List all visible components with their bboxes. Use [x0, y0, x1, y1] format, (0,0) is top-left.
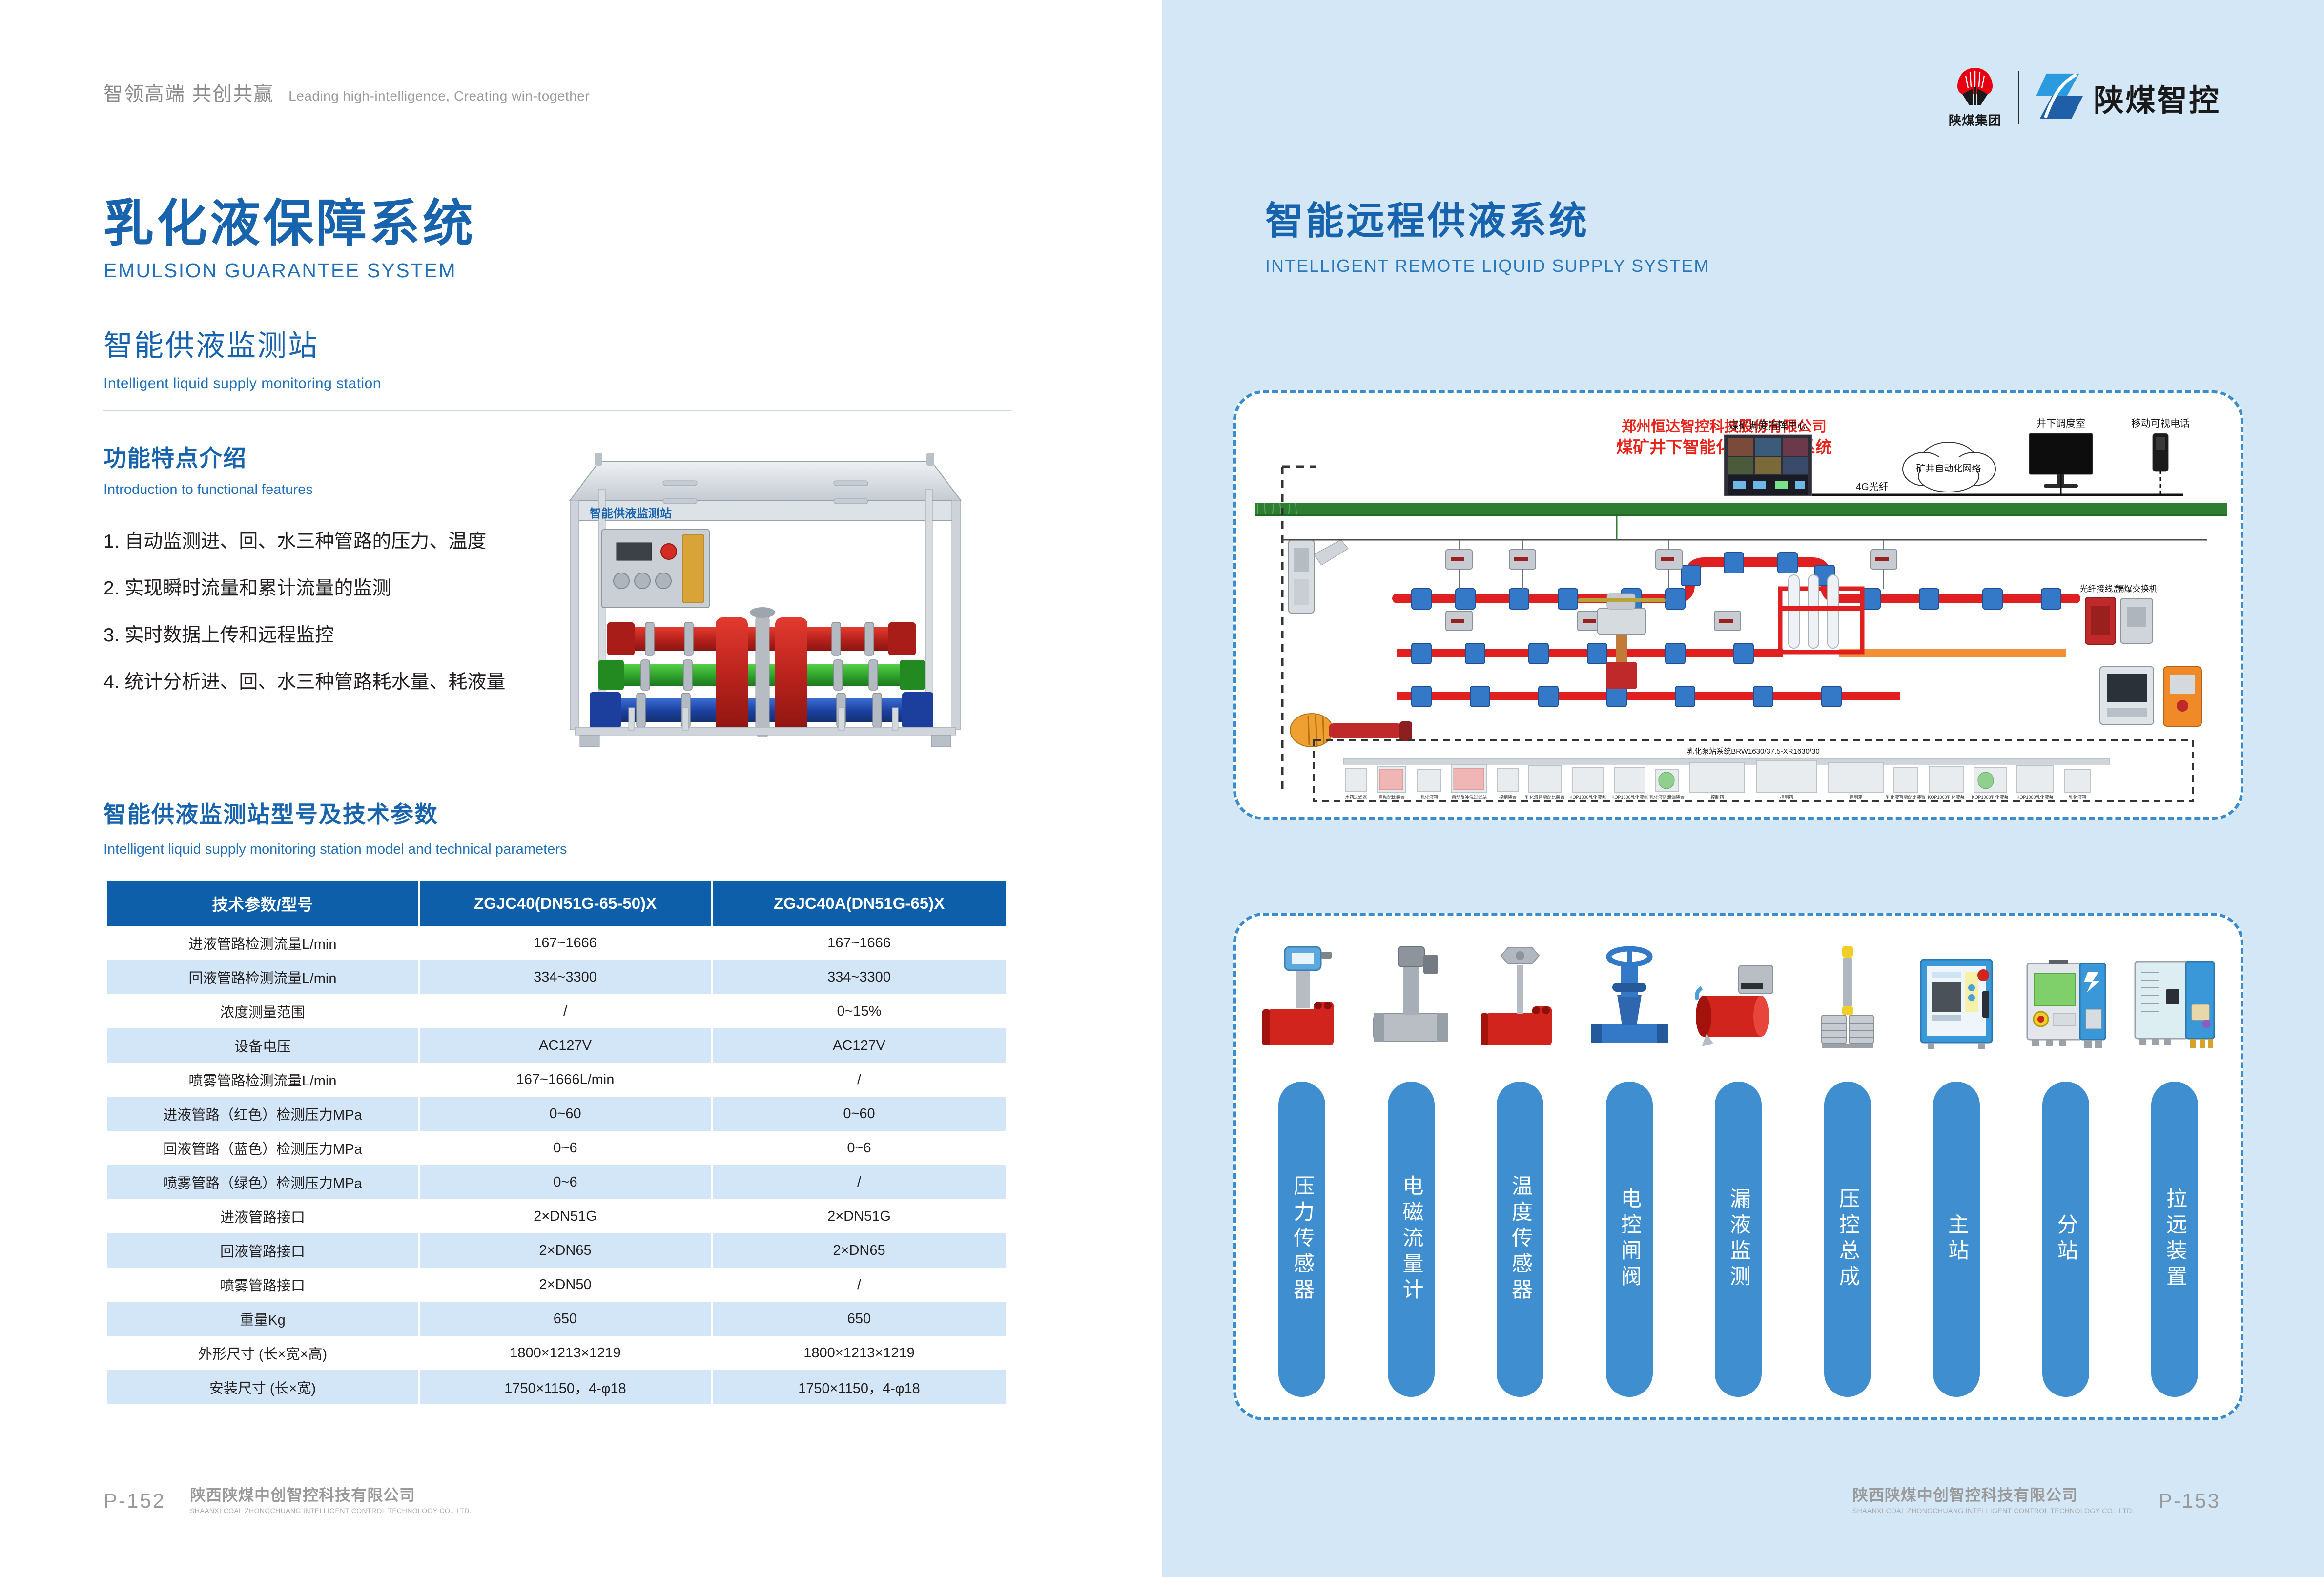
svg-text:KQP1000乳化液泵: KQP1000乳化液泵 — [1611, 794, 1648, 799]
svg-text:自动配比装置: 自动配比装置 — [1378, 794, 1405, 799]
system-diagram: 郑州恒达智控科技股份有限公司 煤矿井下智能化远程供液系统 煤矿调度指挥中心 — [1236, 393, 2241, 817]
component-label: 拉远装置 — [2164, 1188, 2185, 1291]
list-item: 4. 统计分析进、回、水三种管路耗水量、耗液量 — [103, 673, 592, 692]
cell-model-1: 1800×1213×1219 — [420, 1336, 713, 1370]
table-row: 喷雾管路（绿色）检测压力MPa 0~6 / — [107, 1165, 1006, 1199]
features-heading-cn: 功能特点介绍 — [103, 439, 313, 473]
company-name-cn: 陕西陕煤中创智控科技有限公司 — [1852, 1487, 2134, 1504]
svg-text:乳化液智能配比装置: 乳化液智能配比装置 — [1525, 794, 1564, 799]
cell-parameter: 回液管路（蓝色）检测压力MPa — [107, 1131, 420, 1165]
svg-text:KQP1000乳化液泵: KQP1000乳化液泵 — [1928, 794, 1964, 799]
cell-model-1: 0~60 — [420, 1097, 713, 1131]
table-row: 进液管路接口 2×DN51G 2×DN51G — [107, 1199, 1006, 1233]
component-leak-detector[interactable]: 漏液监测 — [1692, 936, 1785, 1397]
component-label: 主站 — [1946, 1213, 1967, 1265]
component-label: 电控闸阀 — [1619, 1188, 1640, 1291]
shaanmei-group-logo: 陕煤集团 — [1949, 66, 2001, 129]
component-gate-valve[interactable]: 电控闸阀 — [1583, 936, 1676, 1397]
cell-model-1: / — [420, 994, 713, 1028]
main-station-icon — [1910, 936, 2003, 1058]
page-title: 乳化液保障系统 EMULSION GUARANTEE SYSTEM — [103, 195, 476, 282]
table-row: 进液管路（红色）检测压力MPa 0~60 0~60 — [107, 1097, 1006, 1131]
component-remote-device[interactable]: 拉远装置 — [2128, 936, 2221, 1397]
table-row: 进液管路检测流量L/min 167~1666 167~1666 — [107, 926, 1006, 960]
right-page-title: 智能远程供液系统 INTELLIGENT REMOTE LIQUID SUPPL… — [1265, 190, 1709, 276]
component-label-pill: 主站 — [1933, 1082, 1980, 1397]
components-grid: 压力传感器 电磁流量计 — [1255, 936, 2221, 1397]
component-temperature-sensor[interactable]: 温度传感器 — [1474, 936, 1566, 1397]
horizontal-divider — [103, 410, 1011, 411]
cell-model-2: 2×DN51G — [713, 1199, 1006, 1233]
left-page: 智领高端 共创共赢 Leading high-intelligence, Cre… — [0, 0, 1162, 1577]
svg-text:水箱过滤器: 水箱过滤器 — [1345, 794, 1367, 799]
component-label: 压控总成 — [1837, 1188, 1858, 1291]
component-label-pill: 温度传感器 — [1497, 1082, 1543, 1397]
page-title-cn: 乳化液保障系统 — [103, 195, 476, 251]
cell-parameter: 安装尺寸 (长×宽) — [107, 1370, 420, 1404]
cell-model-2: AC127V — [713, 1028, 1006, 1063]
cell-parameter: 设备电压 — [107, 1028, 420, 1063]
cell-model-2: / — [713, 1165, 1006, 1199]
cell-model-1: 2×DN65 — [420, 1233, 713, 1268]
table-row: 外形尺寸 (长×宽×高) 1800×1213×1219 1800×1213×12… — [107, 1336, 1006, 1370]
component-label-pill: 漏液监测 — [1715, 1082, 1762, 1397]
table-row: 回液管路（蓝色）检测压力MPa 0~6 0~6 — [107, 1131, 1006, 1165]
features-heading: 功能特点介绍 Introduction to functional featur… — [103, 439, 313, 498]
cell-model-2: 167~1666 — [713, 926, 1006, 960]
label-pump-station: 乳化泵站系统BRW1630/37.5-XR1630/30 — [1687, 747, 1820, 756]
sub-station-icon — [2019, 936, 2112, 1058]
company-signature: 陕西陕煤中创智控科技有限公司 SHAANXI COAL ZHONGCHUANG … — [1852, 1487, 2134, 1515]
component-label-pill: 电磁流量计 — [1388, 1082, 1435, 1397]
column-header-model-1: ZGJC40(DN51G-65-50)X — [420, 881, 713, 926]
right-page-title-cn: 智能远程供液系统 — [1265, 190, 1709, 245]
table-row: 回液管路接口 2×DN65 2×DN65 — [107, 1233, 1006, 1268]
table-row: 喷雾管路接口 2×DN50 / — [107, 1268, 1006, 1302]
page-number: P-153 — [2159, 1489, 2221, 1513]
cell-model-1: 334~3300 — [420, 960, 713, 994]
table-row: 设备电压 AC127V AC127V — [107, 1028, 1006, 1063]
cell-model-2: 1800×1213×1219 — [713, 1336, 1006, 1370]
cell-parameter: 回液管路接口 — [107, 1233, 420, 1268]
right-page: 陕煤集团 陕煤智控 智能远程供液系统 INTELLIGENT REMOTE LI… — [1162, 0, 2324, 1577]
svg-text:KQP1000乳化液泵: KQP1000乳化液泵 — [1569, 794, 1606, 799]
remote-device-icon — [2128, 936, 2221, 1058]
cell-model-1: 2×DN51G — [420, 1199, 713, 1233]
cell-model-1: 2×DN50 — [420, 1268, 713, 1302]
cell-model-2: / — [713, 1268, 1006, 1302]
component-pressure-control-assembly[interactable]: 压控总成 — [1801, 936, 1894, 1397]
component-flow-meter[interactable]: 电磁流量计 — [1365, 936, 1458, 1397]
company-name-en: SHAANXI COAL ZHONGCHUANG INTELLIGENT CON… — [1852, 1507, 2134, 1515]
list-item: 3. 实时数据上传和远程监控 — [103, 626, 592, 645]
component-label-pill: 拉远装置 — [2151, 1082, 2198, 1397]
svg-text:乳化液防泄漏装置: 乳化液防泄漏装置 — [1649, 794, 1685, 799]
gate-valve-icon — [1583, 936, 1676, 1058]
page-title-en: EMULSION GUARANTEE SYSTEM — [103, 259, 476, 282]
label-4g-fiber: 4G光纤 — [1856, 481, 1889, 492]
svg-text:KQP1000乳化液泵: KQP1000乳化液泵 — [2016, 794, 2053, 799]
cell-parameter: 外形尺寸 (长×宽×高) — [107, 1336, 420, 1370]
svg-text:控制箱: 控制箱 — [1780, 794, 1793, 799]
cell-model-2: / — [713, 1063, 1006, 1097]
cell-parameter: 喷雾管路接口 — [107, 1268, 420, 1302]
svg-text:乳化液箱: 乳化液箱 — [2069, 794, 2086, 799]
cell-parameter: 进液管路接口 — [107, 1199, 420, 1233]
cell-model-2: 1750×1150，4-φ18 — [713, 1370, 1006, 1404]
cell-model-1: 650 — [420, 1302, 713, 1336]
label-underground-dispatch: 井下调度室 — [2036, 418, 2085, 429]
cell-model-1: 0~6 — [420, 1165, 713, 1199]
cell-model-2: 650 — [713, 1302, 1006, 1336]
cell-parameter: 浓度测量范围 — [107, 994, 420, 1028]
tagline-cn: 智领高端 共创共赢 — [103, 78, 274, 106]
tagline-en: Leading high-intelligence, Creating win-… — [288, 88, 590, 104]
svg-text:控制箱: 控制箱 — [1849, 794, 1862, 799]
list-item: 2. 实现瞬时流量和累计流量的监测 — [103, 579, 592, 598]
shaanmei-group-mark-icon — [1954, 66, 1995, 107]
shaanmei-zhikong-mark-icon — [2036, 71, 2083, 124]
component-label: 漏液监测 — [1728, 1188, 1749, 1291]
shaanmei-zhikong-label: 陕煤智控 — [2094, 76, 2221, 120]
cell-model-2: 2×DN65 — [713, 1233, 1006, 1268]
cell-model-2: 0~6 — [713, 1131, 1006, 1165]
system-diagram-card: 郑州恒达智控科技股份有限公司 煤矿井下智能化远程供液系统 煤矿调度指挥中心 — [1233, 390, 2243, 820]
section-subtitle-en: Intelligent liquid supply monitoring sta… — [103, 375, 381, 392]
component-label: 温度传感器 — [1510, 1175, 1531, 1304]
cell-parameter: 喷雾管路（绿色）检测压力MPa — [107, 1165, 420, 1199]
cell-model-1: 1750×1150，4-φ18 — [420, 1370, 713, 1404]
column-header-model-2: ZGJC40A(DN51G-65)X — [713, 881, 1006, 926]
company-name-cn: 陕西陕煤中创智控科技有限公司 — [190, 1487, 472, 1504]
cell-parameter: 进液管路（红色）检测压力MPa — [107, 1097, 420, 1131]
svg-text:智能供液监测站: 智能供液监测站 — [590, 507, 672, 520]
cell-model-2: 334~3300 — [713, 960, 1006, 994]
component-label-pill: 压控总成 — [1824, 1082, 1871, 1397]
cell-model-2: 0~60 — [713, 1097, 1006, 1131]
brochure-spread: 智领高端 共创共赢 Leading high-intelligence, Cre… — [0, 0, 2324, 1577]
component-label-pill: 压力传感器 — [1278, 1082, 1325, 1397]
cell-parameter: 回液管路检测流量L/min — [107, 960, 420, 994]
cell-model-1: 0~6 — [420, 1131, 713, 1165]
table-row: 喷雾管路检测流量L/min 167~1666L/min / — [107, 1063, 1006, 1097]
right-page-title-en: INTELLIGENT REMOTE LIQUID SUPPLY SYSTEM — [1265, 256, 1709, 276]
cell-parameter: 喷雾管路检测流量L/min — [107, 1063, 420, 1097]
flow-meter-icon — [1365, 936, 1458, 1058]
component-label: 压力传感器 — [1292, 1175, 1313, 1304]
pressure-sensor-icon — [1255, 936, 1348, 1058]
cell-model-1: AC127V — [420, 1028, 713, 1063]
table-heading: 智能供液监测站型号及技术参数 Intelligent liquid supply… — [103, 796, 567, 858]
svg-text:乳化液箱: 乳化液箱 — [1420, 794, 1438, 799]
cell-parameter: 重量Kg — [107, 1302, 420, 1336]
company-name-en: SHAANXI COAL ZHONGCHUANG INTELLIGENT CON… — [190, 1507, 472, 1515]
cell-parameter: 进液管路检测流量L/min — [107, 926, 420, 960]
features-heading-en: Introduction to functional features — [103, 482, 313, 498]
section-subtitle: 智能供液监测站 Intelligent liquid supply monito… — [103, 322, 381, 392]
label-mine-network: 矿井自动化网络 — [1916, 463, 1981, 474]
section-subtitle-cn: 智能供液监测站 — [103, 322, 381, 365]
product-photo-monitoring-station: 智能供液监测站 — [541, 434, 980, 761]
component-label: 分站 — [2055, 1213, 2076, 1265]
table-row: 安装尺寸 (长×宽) 1750×1150，4-φ18 1750×1150，4-φ… — [107, 1370, 1006, 1404]
right-page-footer: 陕西陕煤中创智控科技有限公司 SHAANXI COAL ZHONGCHUANG … — [1852, 1487, 2221, 1515]
cell-model-1: 167~1666L/min — [420, 1063, 713, 1097]
component-sub-station[interactable]: 分站 — [2019, 936, 2112, 1397]
component-label-pill: 分站 — [2042, 1082, 2089, 1397]
svg-text:控制箱: 控制箱 — [1710, 794, 1724, 799]
tagline: 智领高端 共创共赢 Leading high-intelligence, Cre… — [103, 78, 590, 106]
list-item: 1. 自动监测进、回、水三种管路的压力、温度 — [103, 532, 592, 551]
brand-logos: 陕煤集团 陕煤智控 — [1949, 66, 2221, 129]
spec-table: 技术参数/型号 ZGJC40(DN51G-65-50)X ZGJC40A(DN5… — [107, 881, 1006, 1404]
table-row: 重量Kg 650 650 — [107, 1302, 1006, 1336]
table-header-row: 技术参数/型号 ZGJC40(DN51G-65-50)X ZGJC40A(DN5… — [107, 881, 1006, 926]
svg-text:乳化液智能配比装置: 乳化液智能配比装置 — [1886, 794, 1925, 799]
left-page-footer: P-152 陕西陕煤中创智控科技有限公司 SHAANXI COAL ZHONGC… — [103, 1487, 472, 1515]
component-label: 电磁流量计 — [1400, 1175, 1421, 1304]
spec-table-body: 进液管路检测流量L/min 167~1666 167~1666 回液管路检测流量… — [107, 926, 1006, 1404]
page-number: P-152 — [103, 1489, 165, 1513]
logo-divider — [2018, 71, 2019, 124]
cell-model-2: 0~15% — [713, 994, 1006, 1028]
temperature-sensor-icon — [1474, 936, 1566, 1058]
label-ex-switch: 隔爆交换机 — [2116, 584, 2158, 594]
column-header-parameter: 技术参数/型号 — [107, 881, 420, 926]
components-card: 压力传感器 电磁流量计 — [1233, 913, 2243, 1420]
label-dispatch-center: 煤矿调度指挥中心 — [1729, 420, 1807, 431]
component-pressure-sensor[interactable]: 压力传感器 — [1255, 936, 1348, 1397]
component-main-station[interactable]: 主站 — [1910, 936, 2003, 1397]
leak-detector-icon — [1692, 936, 1785, 1058]
table-row: 浓度测量范围 / 0~15% — [107, 994, 1006, 1028]
svg-text:控制装置: 控制装置 — [1499, 794, 1517, 799]
label-fiber-box: 光纤接线盒 — [2080, 584, 2121, 594]
table-heading-en: Intelligent liquid supply monitoring sta… — [103, 841, 567, 858]
svg-text:KQP1000乳化液泵: KQP1000乳化液泵 — [1972, 794, 2008, 799]
features-list: 1. 自动监测进、回、水三种管路的压力、温度 2. 实现瞬时流量和累计流量的监测… — [103, 532, 592, 719]
svg-text:自动反冲洗过滤站: 自动反冲洗过滤站 — [1452, 794, 1487, 799]
cell-model-1: 167~1666 — [420, 926, 713, 960]
component-label-pill: 电控闸阀 — [1606, 1082, 1653, 1397]
company-signature: 陕西陕煤中创智控科技有限公司 SHAANXI COAL ZHONGCHUANG … — [190, 1487, 472, 1515]
pressure-control-assembly-icon — [1801, 936, 1894, 1058]
shaanmei-group-label: 陕煤集团 — [1949, 111, 2001, 129]
table-row: 回液管路检测流量L/min 334~3300 334~3300 — [107, 960, 1006, 994]
table-heading-cn: 智能供液监测站型号及技术参数 — [103, 796, 567, 829]
label-mobile-video-phone: 移动可视电话 — [2131, 418, 2190, 429]
shaanmei-zhikong-logo: 陕煤智控 — [2036, 71, 2221, 124]
